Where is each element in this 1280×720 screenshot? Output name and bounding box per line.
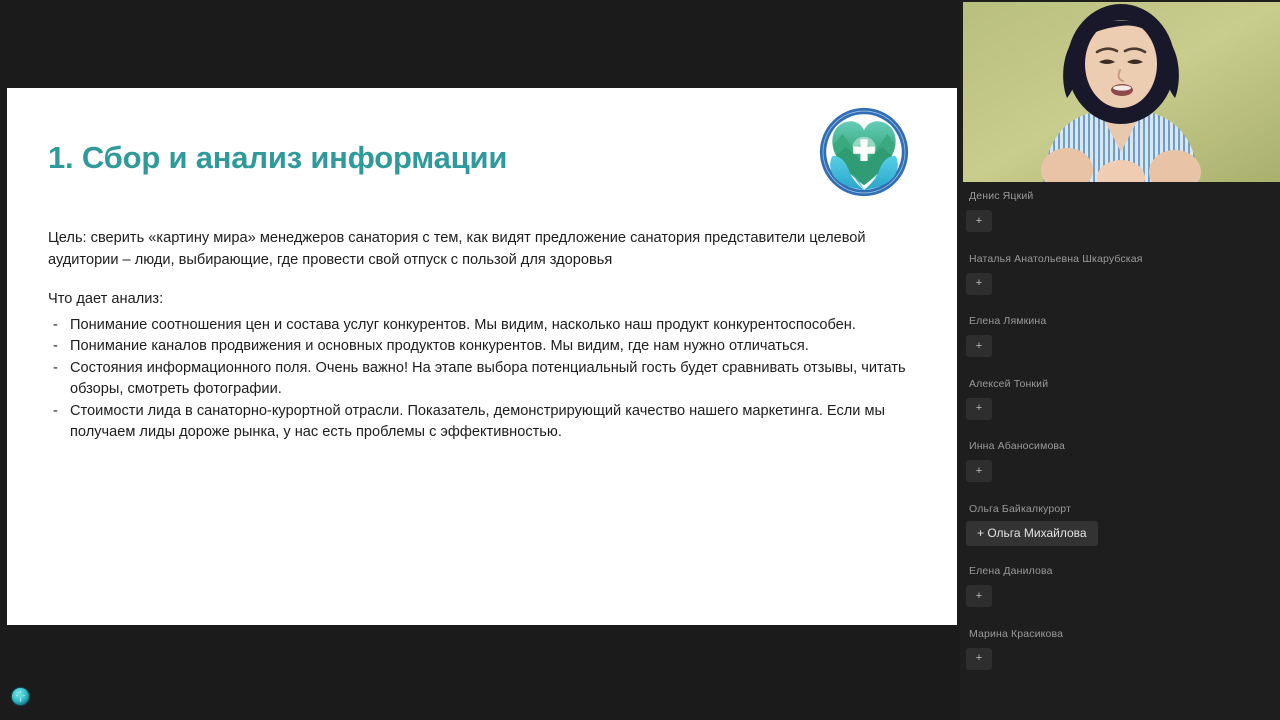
plus-icon: + [966,210,992,232]
list-item[interactable]: Наталья Анатольевна Шкарубская + [960,249,1280,312]
page-title: 1. Сбор и анализ информации [48,140,507,176]
participant-video-tile[interactable]: + [966,273,992,295]
list-item[interactable]: Алексей Тонкий + [960,374,1280,437]
presentation-slide[interactable]: 1. Сбор и анализ информации [7,88,957,625]
app-status-icon[interactable] [10,686,31,707]
list-item: Понимание соотношения цен и состава услу… [48,315,916,337]
list-item: Понимание каналов продвижения и основных… [48,336,916,358]
participants-panel: Денис Яцкий + Наталья Анатольевна Шкаруб… [960,0,1280,720]
participant-video-tile[interactable]: + [966,585,992,607]
webinar-screen: 1. Сбор и анализ информации [0,0,1280,720]
participant-name: Инна Абаносимова [969,440,1065,452]
list-item: Состояния информационного поля. Очень ва… [48,358,916,401]
slide-lead-in: Что дает анализ: [48,289,916,311]
participant-video-tile[interactable]: + [966,648,992,670]
participant-video-tile[interactable]: + [966,335,992,357]
list-item[interactable]: Денис Яцкий + [960,186,1280,249]
participant-name: Елена Данилова [969,565,1053,577]
participant-video-tile[interactable]: + [966,460,992,482]
plus-icon: + [966,585,992,607]
list-item[interactable]: Елена Лямкина + [960,311,1280,374]
plus-icon: + [966,335,992,357]
list-item[interactable]: Ольга Байкалкурорт + Ольга Михайлова [960,499,1280,562]
plus-icon: + [966,460,992,482]
slide-intro-paragraph: Цель: сверить «картину мира» менеджеров … [48,228,916,271]
list-item[interactable]: Елена Данилова + [960,561,1280,624]
participant-video-tile[interactable]: + [966,210,992,232]
plus-icon: + [966,273,992,295]
participant-name: Денис Яцкий [969,190,1033,202]
list-item[interactable]: Инна Абаносимова + [960,436,1280,499]
plus-icon: + [966,648,992,670]
plus-icon: + [966,398,992,420]
participant-name: Наталья Анатольевна Шкарубская [969,253,1143,265]
participant-name: Марина Красикова [969,628,1063,640]
slide-bullet-list: Понимание соотношения цен и состава услу… [48,315,916,444]
participant-name: Ольга Байкалкурорт [969,503,1071,515]
participant-name: Алексей Тонкий [969,378,1048,390]
list-item: Стоимости лида в санаторно-курортной отр… [48,401,916,444]
slide-stage[interactable]: 1. Сбор и анализ информации [0,0,960,720]
participant-add-badge[interactable]: + Ольга Михайлова [966,521,1098,546]
sanatorium-health-resort-emblem-icon [819,107,909,197]
participants-list[interactable]: Денис Яцкий + Наталья Анатольевна Шкаруб… [960,184,1280,720]
participant-name: Елена Лямкина [969,315,1046,327]
slide-body: Цель: сверить «картину мира» менеджеров … [48,228,916,444]
list-item[interactable]: Марина Красикова + [960,624,1280,687]
participant-video-tile[interactable]: + [966,398,992,420]
speaker-video-tile[interactable] [963,2,1280,182]
